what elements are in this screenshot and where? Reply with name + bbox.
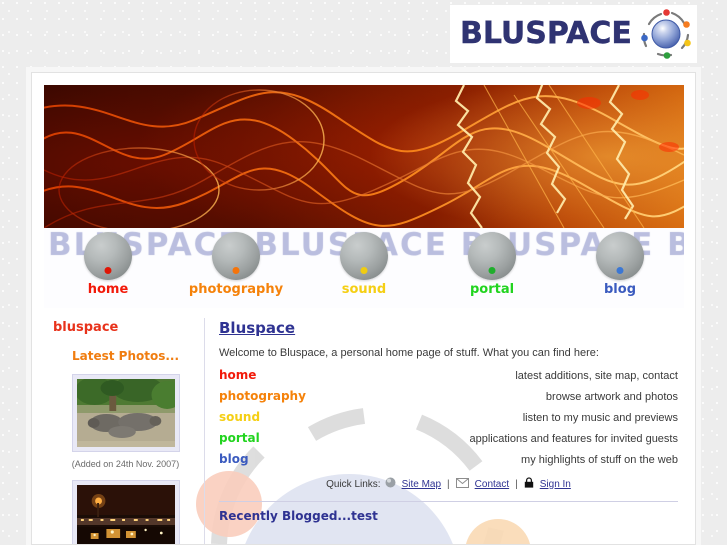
section-link-photography[interactable]: photography (219, 389, 306, 403)
recently-blogged-heading: Recently Blogged...test (219, 509, 678, 523)
nav-dot-photography (233, 267, 240, 274)
nav-sphere-icon (468, 232, 516, 280)
quick-links-label: Quick Links: (326, 479, 380, 490)
logo-orbit-icon (638, 8, 694, 60)
nav-label-portal: portal (470, 282, 514, 297)
nav-item-sound[interactable]: sound (300, 228, 428, 297)
nav-item-photography[interactable]: photography (172, 228, 300, 297)
nav-sphere-icon (340, 232, 388, 280)
logo-wordmark: BLUSPACE (460, 19, 632, 49)
nav-sphere-icon (212, 232, 260, 280)
quick-link-contact[interactable]: Contact (475, 479, 509, 490)
section-link-portal[interactable]: portal (219, 431, 260, 445)
nav-dot-sound (361, 267, 368, 274)
banner-image (44, 85, 684, 228)
photo-caption: (Added on 24th Nov. 2007) (53, 459, 198, 469)
main-column: Bluspace Welcome to Bluspace, a personal… (205, 314, 684, 544)
latest-photos-heading: Latest Photos... (53, 349, 198, 363)
intro-text: Welcome to Bluspace, a personal home pag… (219, 347, 678, 359)
blog-section-divider (219, 501, 678, 502)
logo-band: BLUSPACE (0, 0, 727, 68)
section-row-blog: blog my highlights of stuff on the web (219, 452, 678, 466)
quick-links-separator-2: | (515, 479, 518, 490)
quick-links-bar: Quick Links: Site Map | Contact | (219, 477, 678, 491)
section-link-blog[interactable]: blog (219, 452, 249, 466)
photo-thumbnail-rhinos[interactable] (72, 374, 180, 452)
page-frame: BLUSPACE BLUSPACE BLUSPACE BLUSPACE BLUS… (31, 72, 696, 545)
section-row-photography: photography browse artwork and photos (219, 389, 678, 403)
nav-item-blog[interactable]: blog (556, 228, 684, 297)
main-navigation: BLUSPACE BLUSPACE BLUSPACE BLUSPACE BLUS… (44, 228, 684, 308)
section-desc-photography: browse artwork and photos (546, 391, 678, 403)
section-link-home[interactable]: home (219, 368, 256, 382)
lock-icon (524, 477, 534, 491)
photo-thumbnail-night-city[interactable] (72, 480, 180, 544)
nav-dot-blog (617, 267, 624, 274)
section-desc-blog: my highlights of stuff on the web (521, 454, 678, 466)
section-row-home: home latest additions, site map, contact (219, 368, 678, 382)
nav-label-home: home (88, 282, 129, 297)
envelope-icon (456, 478, 469, 491)
quick-link-sign-in[interactable]: Sign In (540, 479, 571, 490)
section-link-sound[interactable]: sound (219, 410, 260, 424)
section-row-sound: sound listen to my music and previews (219, 410, 678, 424)
site-logo[interactable]: BLUSPACE (450, 5, 697, 63)
page-title-bluspace[interactable]: Bluspace (219, 319, 295, 337)
sphere-icon (385, 477, 396, 491)
nav-sphere-icon (84, 232, 132, 280)
sidebar-title: bluspace (53, 320, 198, 335)
nav-label-sound: sound (342, 282, 386, 297)
nav-label-blog: blog (604, 282, 636, 297)
content-area: bluspace Latest Photos... (44, 314, 684, 544)
nav-dot-home (105, 267, 112, 274)
nav-label-photography: photography (189, 282, 283, 297)
section-desc-portal: applications and features for invited gu… (469, 433, 678, 445)
sidebar: bluspace Latest Photos... (44, 314, 204, 544)
nav-dot-portal (489, 267, 496, 274)
nav-item-home[interactable]: home (44, 228, 172, 297)
section-row-portal: portal applications and features for inv… (219, 431, 678, 445)
quick-link-site-map[interactable]: Site Map (402, 479, 441, 490)
section-desc-sound: listen to my music and previews (523, 412, 678, 424)
nav-item-portal[interactable]: portal (428, 228, 556, 297)
quick-links-separator-1: | (447, 479, 450, 490)
section-desc-home: latest additions, site map, contact (515, 370, 678, 382)
nav-sphere-icon (596, 232, 644, 280)
